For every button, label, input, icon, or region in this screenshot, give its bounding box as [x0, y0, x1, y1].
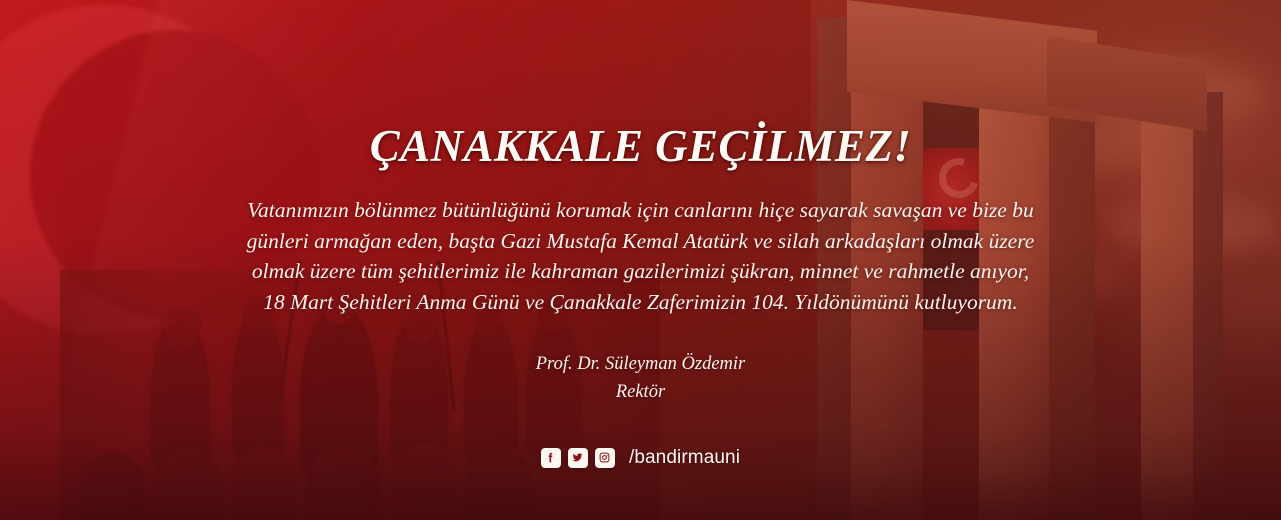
social-media-bar: /bandirmauni	[541, 447, 740, 469]
message-line-1: Vatanımızın bölünmez bütünlüğünü korumak…	[171, 195, 1111, 226]
banner-content: ÇANAKKALE GEÇİLMEZ! Vatanımızın bölünmez…	[0, 0, 1281, 520]
signatory-role: Rektör	[536, 379, 745, 407]
canakkale-commemoration-banner: ÇANAKKALE GEÇİLMEZ! Vatanımızın bölünmez…	[0, 0, 1281, 520]
facebook-icon[interactable]	[541, 448, 561, 468]
social-handle[interactable]: /bandirmauni	[629, 447, 740, 469]
signature-block: Prof. Dr. Süleyman Özdemir Rektör	[536, 351, 745, 407]
page-title: ÇANAKKALE GEÇİLMEZ!	[370, 124, 912, 169]
message-line-2: günleri armağan eden, başta Gazi Mustafa…	[171, 226, 1111, 257]
instagram-icon[interactable]	[595, 448, 615, 468]
commemoration-message: Vatanımızın bölünmez bütünlüğünü korumak…	[171, 195, 1111, 317]
twitter-icon[interactable]	[568, 448, 588, 468]
message-line-3: olmak üzere tüm şehitlerimiz ile kahrama…	[171, 256, 1111, 287]
signatory-name: Prof. Dr. Süleyman Özdemir	[536, 354, 745, 374]
message-line-4: 18 Mart Şehitleri Anma Günü ve Çanakkale…	[171, 287, 1111, 318]
